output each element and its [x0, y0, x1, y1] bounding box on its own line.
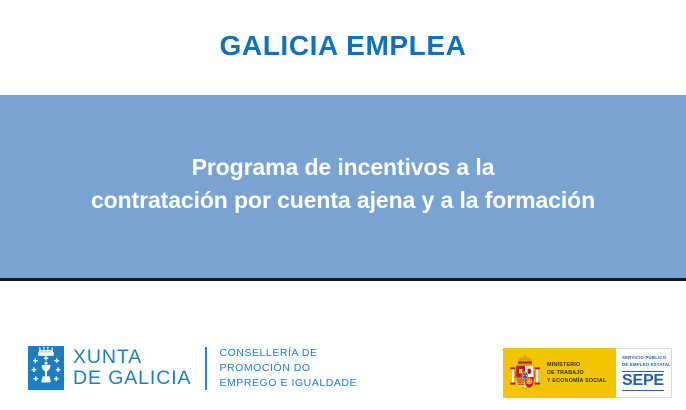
xunta-de-galicia-logo: XUNTA DE GALICIA CONSELLERÍA DE PROMOCIÓ… [28, 346, 357, 391]
title-band: GALICIA EMPLEA [0, 0, 686, 95]
ministerio-line-2: DE TRABAJO [547, 369, 607, 377]
program-banner: Programa de incentivos a la contratación… [0, 95, 686, 281]
sepe-panel: SERVICIO PÚBLICO DE EMPLEO ESTATAL SEPE [616, 348, 672, 398]
conselleria-name: CONSELLERÍA DE PROMOCIÓN DO EMPREGO E IG… [219, 346, 357, 391]
sepe-fullname-line-1: SERVICIO PÚBLICO [622, 354, 671, 361]
conselleria-line-2: PROMOCIÓN DO [219, 361, 357, 376]
logo-divider [205, 347, 207, 390]
conselleria-line-3: EMPREGO E IGUALDADE [219, 376, 357, 391]
footer-logo-bar: XUNTA DE GALICIA CONSELLERÍA DE PROMOCIÓ… [0, 284, 686, 410]
xunta-wordmark: XUNTA DE GALICIA [73, 347, 191, 391]
conselleria-line-1: CONSELLERÍA DE [219, 346, 357, 361]
banner-heading-line-2: contratación por cuenta ajena y a la for… [12, 184, 674, 217]
ministerio-panel: MINISTERIO DE TRABAJO Y ECONOMÍA SOCIAL [503, 348, 616, 398]
sepe-fullname-line-2: DE EMPLEO ESTATAL [622, 361, 671, 368]
banner-heading-line-1: Programa de incentivos a la [12, 151, 674, 184]
page-title: GALICIA EMPLEA [220, 32, 467, 64]
ministerio-name: MINISTERIO DE TRABAJO Y ECONOMÍA SOCIAL [547, 361, 607, 386]
gobierno-de-espana-logo: MINISTERIO DE TRABAJO Y ECONOMÍA SOCIAL … [503, 348, 672, 398]
sepe-fullname: SERVICIO PÚBLICO DE EMPLEO ESTATAL [622, 354, 671, 368]
banner-heading: Programa de incentivos a la contratación… [0, 151, 686, 222]
ministerio-line-3: Y ECONOMÍA SOCIAL [547, 377, 607, 385]
sepe-wordmark: SEPE [622, 371, 664, 391]
xunta-de-galicia-coat-of-arms-icon [28, 346, 64, 390]
ministerio-line-1: MINISTERIO [547, 361, 607, 369]
spain-coat-of-arms-icon [506, 353, 544, 393]
xunta-wordmark-line-1: XUNTA [73, 347, 191, 369]
xunta-wordmark-line-2: DE GALICIA [73, 368, 191, 390]
